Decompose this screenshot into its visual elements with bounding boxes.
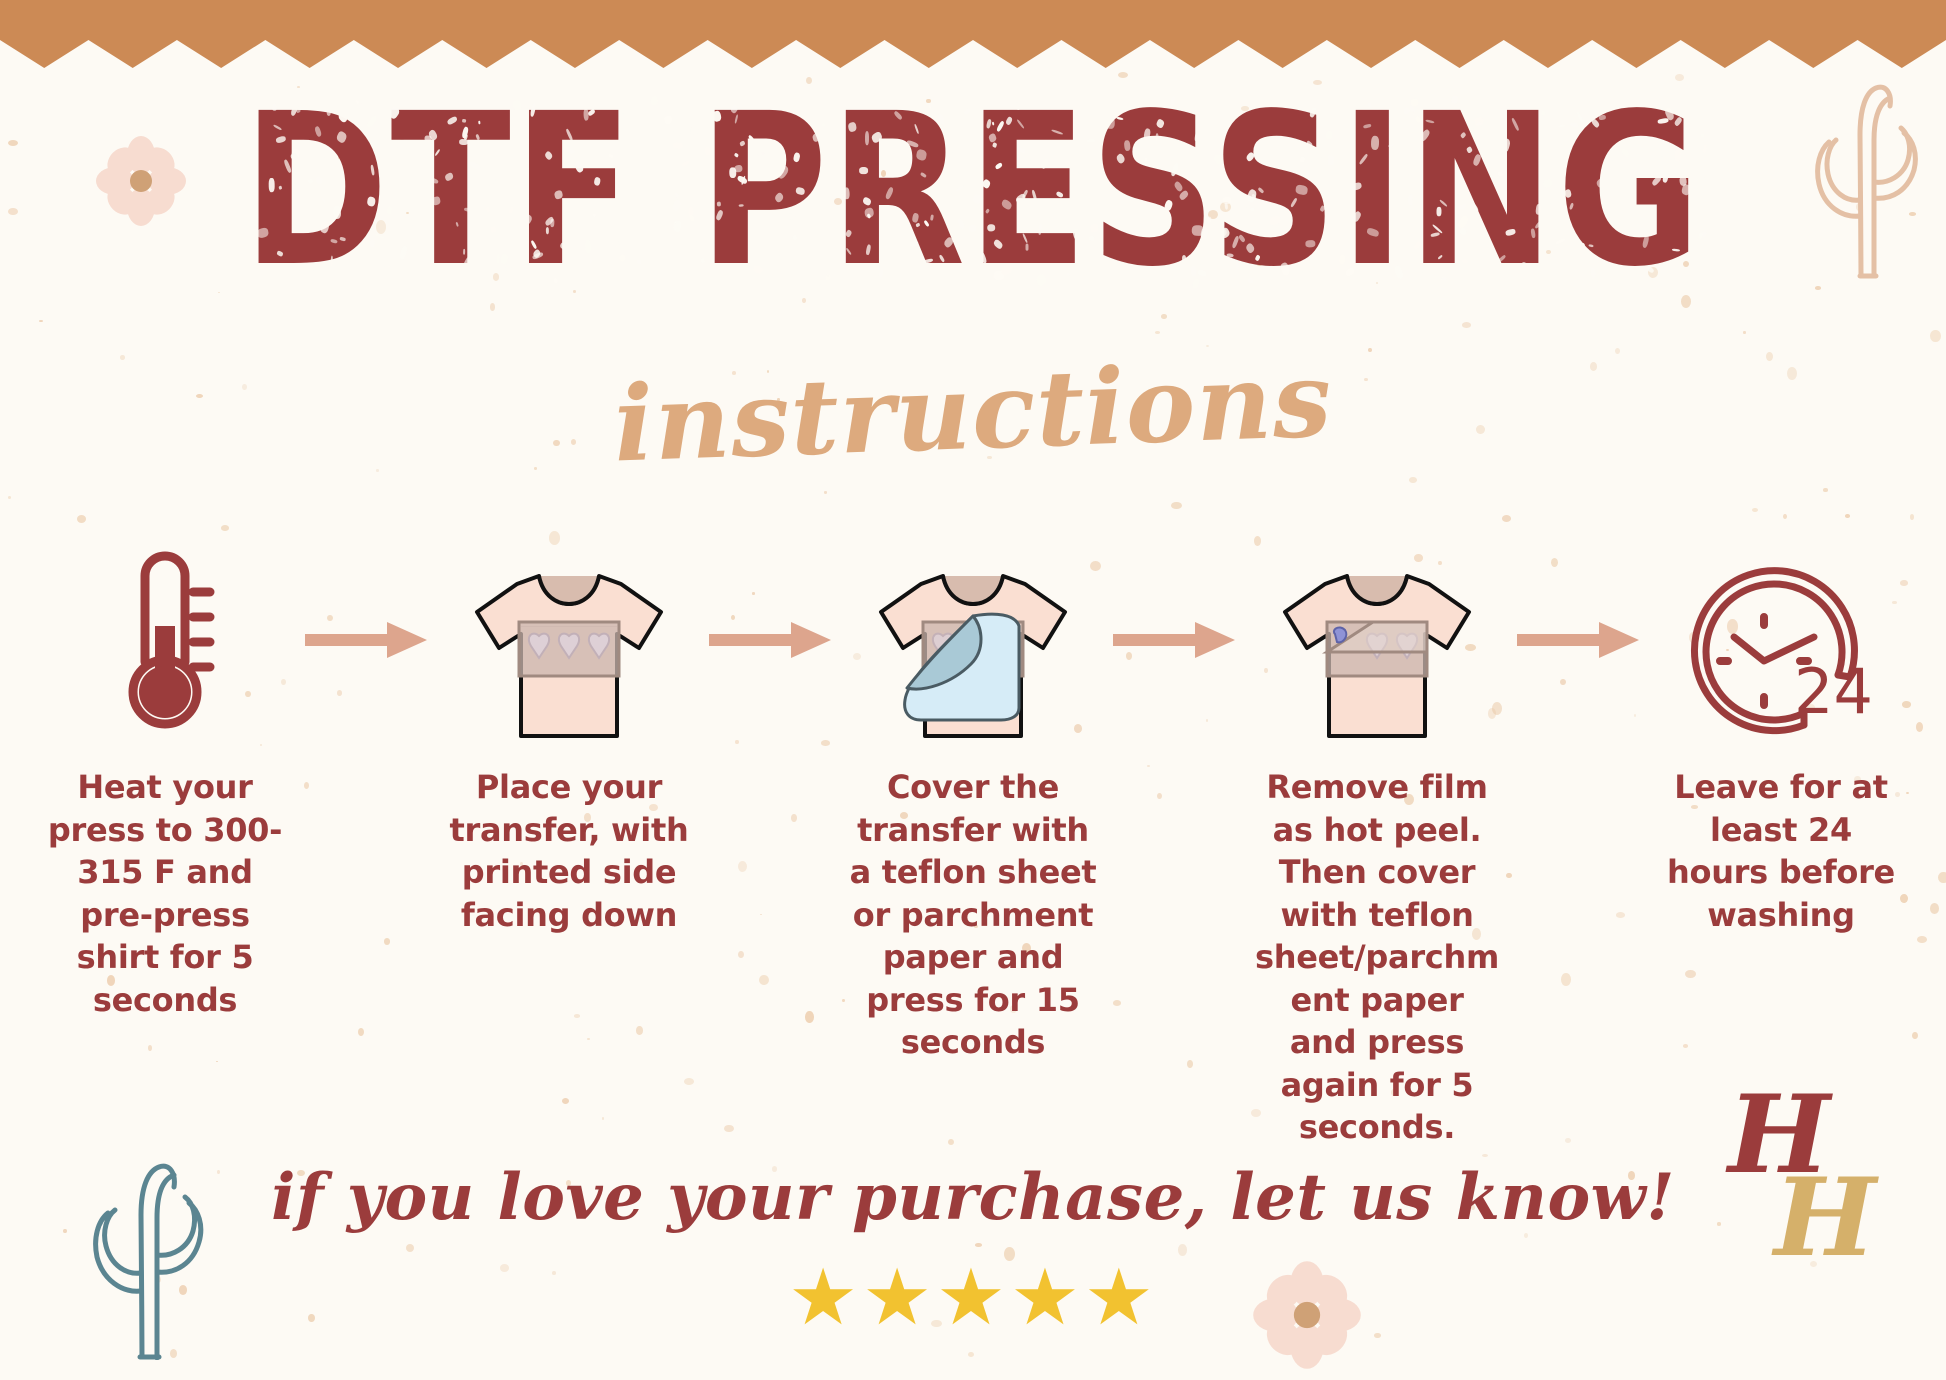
tshirt-teflon-sheet-icon	[873, 560, 1073, 740]
step-3-icon-box	[873, 540, 1073, 740]
step-1: Heat your press to 300-315 F and pre-pre…	[40, 540, 290, 1021]
tshirt-transfer-icon	[469, 560, 669, 740]
step-3: Cover the transfer with a teflon sheet o…	[848, 540, 1098, 1064]
next-step-arrow-icon	[709, 620, 833, 660]
step-2: Place your transfer, with printed side f…	[444, 540, 694, 936]
star-rating: ★★★★★	[0, 1258, 1946, 1336]
step-1-icon-box	[102, 540, 228, 740]
clock-badge-text: 24	[1794, 655, 1873, 728]
thermometer-icon	[102, 540, 228, 740]
step-5: 24 Leave for at least 24 hours before wa…	[1656, 540, 1906, 936]
step-2-text: Place your transfer, with printed side f…	[444, 766, 694, 936]
next-step-arrow-icon	[1113, 620, 1237, 660]
tshirt-peel-film-icon	[1277, 560, 1477, 740]
next-step-arrow-icon	[1517, 620, 1641, 660]
next-step-arrow-icon	[305, 620, 429, 660]
step-5-text: Leave for at least 24 hours before washi…	[1656, 766, 1906, 936]
arrow-1	[302, 540, 432, 740]
footer-tagline: if you love your purchase, let us know!	[0, 1160, 1946, 1235]
step-4-text: Remove film as hot peel. Then cover with…	[1252, 766, 1502, 1149]
arrow-3	[1110, 540, 1240, 740]
step-3-text: Cover the transfer with a teflon sheet o…	[848, 766, 1098, 1064]
top-zigzag-border	[0, 0, 1946, 68]
title-text: DTF PRESSING	[243, 68, 1704, 312]
clock-24-hours-icon: 24	[1686, 565, 1876, 740]
arrow-4	[1514, 540, 1644, 740]
step-4-icon-box	[1277, 540, 1477, 740]
step-5-icon-box: 24	[1686, 540, 1876, 740]
subtitle-script: instructions	[0, 316, 1946, 507]
step-4: Remove film as hot peel. Then cover with…	[1252, 540, 1502, 1149]
step-2-icon-box	[469, 540, 669, 740]
steps-row: Heat your press to 300-315 F and pre-pre…	[40, 540, 1906, 960]
step-1-text: Heat your press to 300-315 F and pre-pre…	[40, 766, 290, 1021]
page-title: DTF PRESSING	[0, 86, 1946, 264]
arrow-2	[706, 540, 836, 740]
